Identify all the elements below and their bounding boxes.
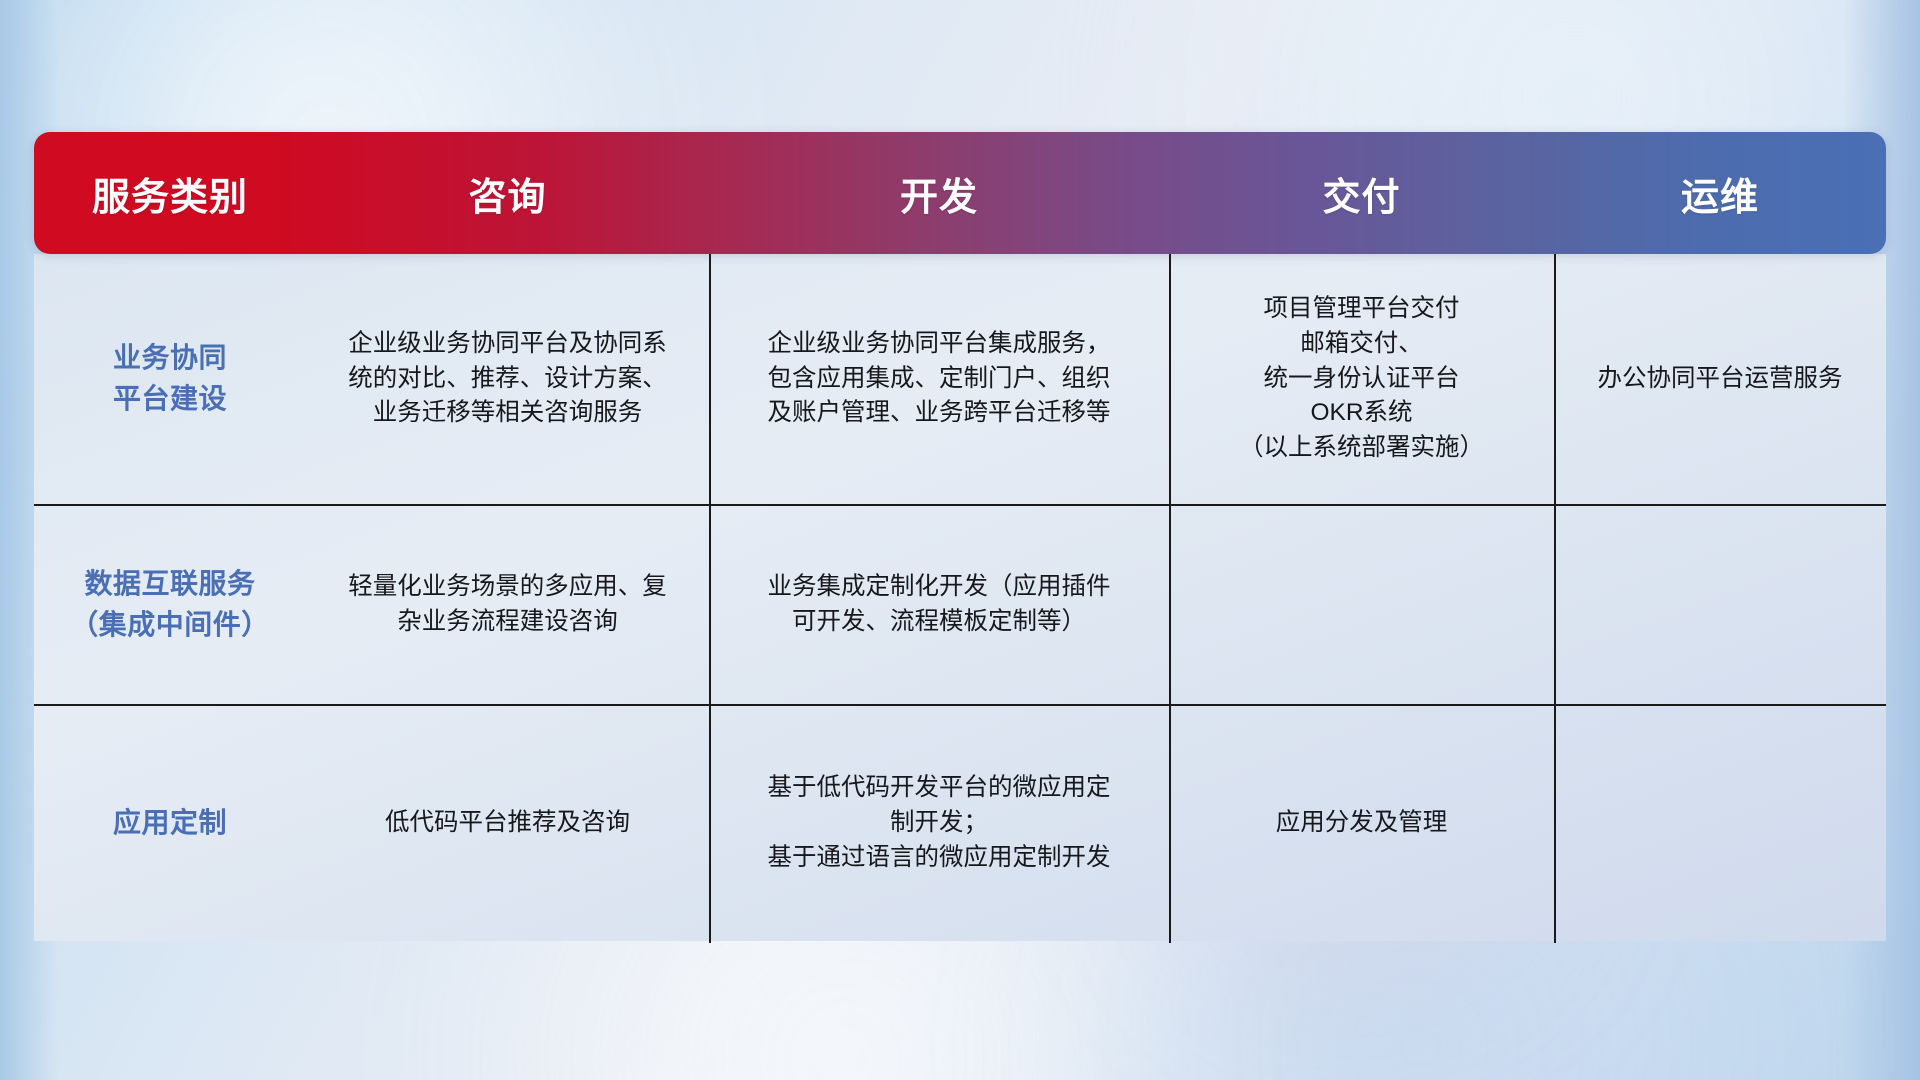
cell-delivery	[1169, 506, 1554, 704]
row-category-label: 数据互联服务 （集成中间件）	[34, 506, 306, 704]
cell-delivery: 项目管理平台交付 邮箱交付、 统一身份认证平台 OKR系统 （以上系统部署实施）	[1169, 254, 1554, 504]
cell-consulting: 低代码平台推荐及咨询	[306, 706, 709, 941]
cell-development: 基于低代码开发平台的微应用定 制开发； 基于通过语言的微应用定制开发	[709, 706, 1169, 941]
service-matrix-table: 服务类别 咨询 开发 交付 运维 业务协同 平台建设 企业级业务协同平台及协同系…	[34, 132, 1886, 941]
cell-development: 业务集成定制化开发（应用插件 可开发、流程模板定制等）	[709, 506, 1169, 704]
table-body: 业务协同 平台建设 企业级业务协同平台及协同系 统的对比、推荐、设计方案、 业务…	[34, 254, 1886, 941]
cell-consulting: 企业级业务协同平台及协同系 统的对比、推荐、设计方案、 业务迁移等相关咨询服务	[306, 254, 709, 504]
column-header-development: 开发	[709, 166, 1169, 221]
row-category-label: 业务协同 平台建设	[34, 254, 306, 504]
cell-consulting: 轻量化业务场景的多应用、复 杂业务流程建设咨询	[306, 506, 709, 704]
column-header-consulting: 咨询	[306, 166, 709, 221]
table-header-row: 服务类别 咨询 开发 交付 运维	[34, 132, 1886, 254]
cell-development: 企业级业务协同平台集成服务， 包含应用集成、定制门户、组织 及账户管理、业务跨平…	[709, 254, 1169, 504]
column-header-operations: 运维	[1554, 166, 1886, 221]
row-category-label: 应用定制	[34, 706, 306, 941]
cell-delivery: 应用分发及管理	[1169, 706, 1554, 941]
table-row: 业务协同 平台建设 企业级业务协同平台及协同系 统的对比、推荐、设计方案、 业务…	[34, 254, 1886, 506]
column-header-delivery: 交付	[1169, 166, 1554, 221]
cell-operations: 办公协同平台运营服务	[1554, 254, 1886, 504]
cell-operations	[1554, 706, 1886, 941]
column-header-category: 服务类别	[34, 166, 306, 221]
cell-operations	[1554, 506, 1886, 704]
table-row: 数据互联服务 （集成中间件） 轻量化业务场景的多应用、复 杂业务流程建设咨询 业…	[34, 506, 1886, 706]
table-row: 应用定制 低代码平台推荐及咨询 基于低代码开发平台的微应用定 制开发； 基于通过…	[34, 706, 1886, 941]
